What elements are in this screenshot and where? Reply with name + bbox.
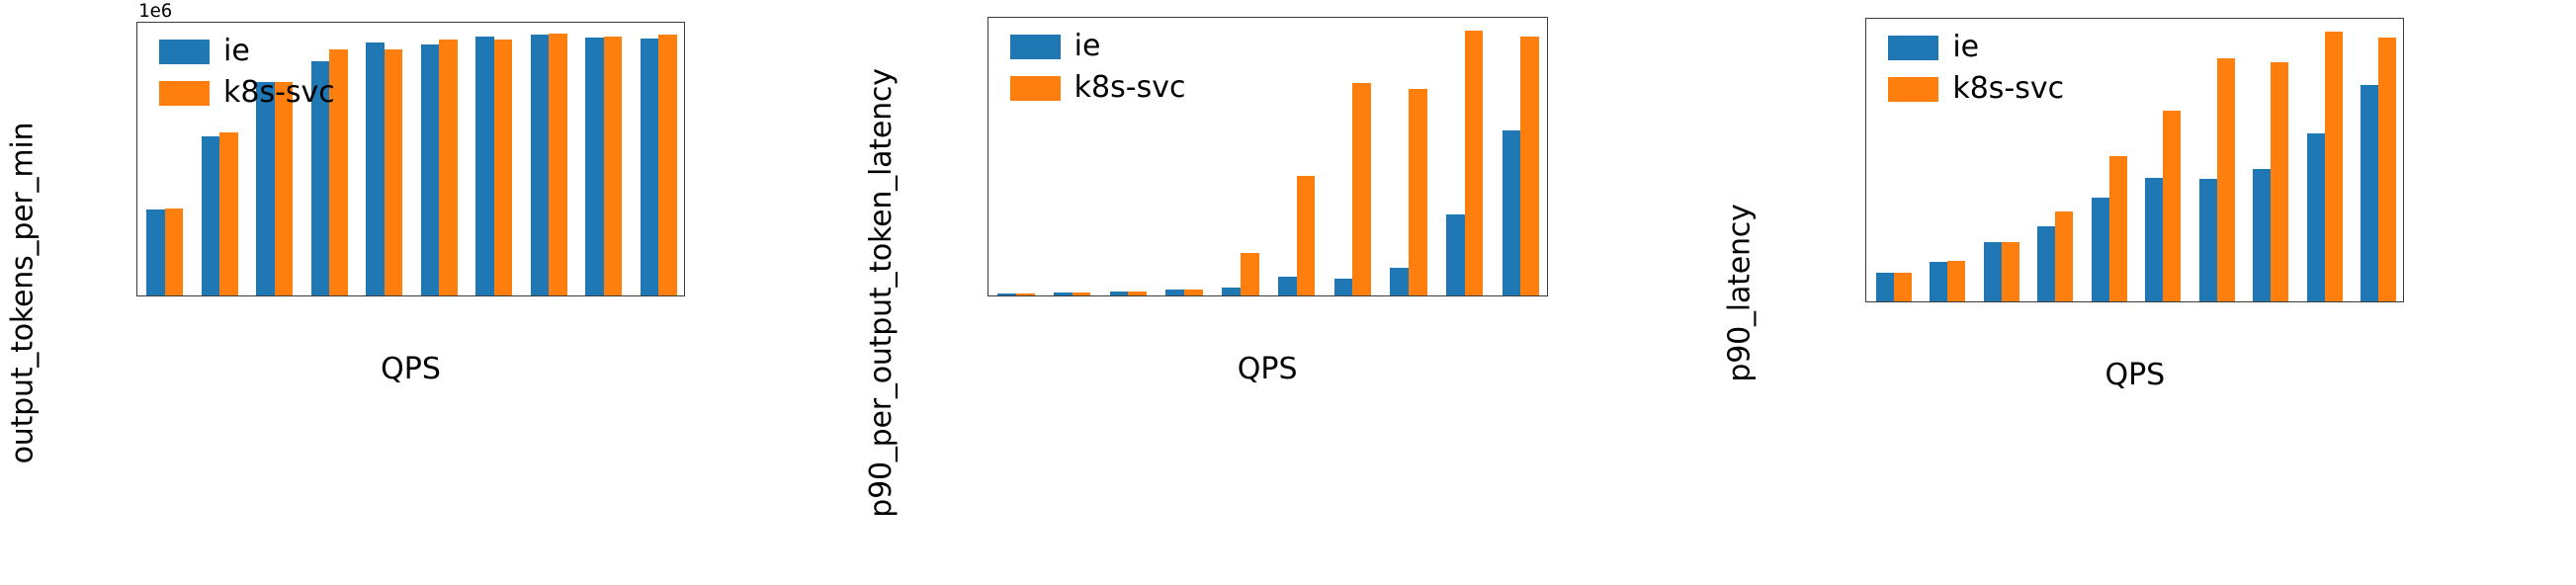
x-axis-tick: 300	[249, 295, 301, 296]
x-tick-mark	[2162, 301, 2164, 302]
x-tick-mark	[328, 295, 330, 296]
bar-ie	[1876, 273, 1894, 301]
legend-label-ie: ie	[223, 37, 250, 66]
x-axis-tick: 800	[2245, 301, 2296, 302]
x-tick-mark	[384, 295, 386, 296]
y-tick-mark	[987, 77, 988, 79]
legend-label-k8s-svc: k8s-svc	[1074, 73, 1186, 103]
legend-entry-k8s-svc: k8s-svc	[1010, 73, 1186, 103]
legend-swatch-k8s-svc	[1888, 77, 1938, 102]
x-axis-tick: 500	[359, 295, 410, 296]
x-tick-mark	[1015, 295, 1017, 296]
x-axis-tick: 900	[1439, 295, 1491, 296]
y-tick-mark	[987, 234, 988, 236]
y-tick-mark	[136, 260, 137, 262]
x-tick-mark	[1893, 301, 1895, 302]
bar-k8s-svc	[1947, 261, 1965, 301]
x-axis-tick: 600	[2137, 301, 2189, 302]
x-tick-mark	[2216, 301, 2218, 302]
x-axis-tick: 1000	[2345, 301, 2405, 302]
bar-ie	[475, 37, 493, 295]
x-axis-tick: 700	[469, 295, 520, 296]
y-tick-mark	[987, 108, 988, 110]
bar-k8s-svc	[2002, 242, 2019, 301]
x-tick-mark	[2001, 301, 2003, 302]
bar-ie	[1390, 268, 1409, 295]
legend-swatch-ie	[159, 40, 210, 64]
bar-ie	[202, 136, 219, 295]
x-tick-mark	[603, 295, 605, 296]
bar-ie	[585, 38, 603, 295]
legend-swatch-k8s-svc	[159, 81, 210, 106]
y-tick-mark	[1865, 141, 1866, 143]
bar-k8s-svc	[165, 209, 183, 295]
bar-k8s-svc	[2271, 62, 2288, 301]
x-tick-mark	[1408, 295, 1410, 296]
x-axis-tick: 1000	[1487, 295, 1548, 296]
x-axis-tick: 300	[1103, 295, 1155, 296]
bar-ie	[2199, 179, 2217, 301]
bar-k8s-svc	[1409, 89, 1427, 295]
x-axis-tick: 700	[2191, 301, 2243, 302]
axes-area: ie k8s-svc 0.00.51.01.52.02.53.03.510020…	[136, 22, 685, 296]
legend-label-k8s-svc: k8s-svc	[1952, 74, 2064, 104]
legend-swatch-ie	[1010, 35, 1061, 59]
x-axis-tick: 500	[2084, 301, 2135, 302]
x-axis-tick: 800	[523, 295, 574, 296]
bar-k8s-svc	[2325, 32, 2343, 301]
x-tick-mark	[1519, 295, 1521, 296]
y-tick-mark	[1865, 195, 1866, 197]
chart-panel-p90-per-output-token-latency: p90_per_output_token_latency ie k8s-svc …	[859, 0, 1718, 585]
bar-k8s-svc	[385, 49, 402, 295]
x-axis-tick: 400	[303, 295, 355, 296]
bar-ie	[1446, 214, 1465, 295]
x-tick-mark	[2377, 301, 2379, 302]
bar-k8s-svc	[1894, 273, 1912, 301]
x-tick-mark	[1464, 295, 1466, 296]
x-tick-mark	[1351, 295, 1353, 296]
x-axis-tick: 300	[1976, 301, 2027, 302]
bar-k8s-svc	[275, 82, 293, 295]
plot-wrapper: 1e6 ie k8s-svc 0.00.51.01.52.02.53.03.51…	[0, 0, 859, 585]
bar-ie	[2145, 178, 2163, 301]
x-tick-mark	[2324, 301, 2326, 302]
legend: ie k8s-svc	[159, 37, 335, 108]
x-axis-tick: 900	[2299, 301, 2351, 302]
x-tick-mark	[2270, 301, 2272, 302]
bar-ie	[1930, 262, 1947, 301]
x-tick-mark	[1183, 295, 1185, 296]
axes-area: ie k8s-svc 02004006008001000120014001600…	[987, 17, 1548, 296]
x-axis-tick: 100	[990, 295, 1042, 296]
y-tick-mark	[987, 265, 988, 267]
x-axis-tick: 800	[1383, 295, 1434, 296]
bar-k8s-svc	[1241, 253, 1259, 295]
x-axis-tick: 700	[1327, 295, 1378, 296]
y-tick-mark	[987, 45, 988, 47]
x-tick-mark	[1296, 295, 1298, 296]
legend-label-ie: ie	[1952, 33, 1979, 62]
legend-swatch-k8s-svc	[1010, 76, 1061, 101]
x-tick-mark	[274, 295, 276, 296]
y-tick-mark	[987, 139, 988, 141]
bar-k8s-svc	[2109, 156, 2127, 301]
y-tick-mark	[136, 150, 137, 152]
x-tick-mark	[657, 295, 659, 296]
x-tick-mark	[493, 295, 495, 296]
bar-ie	[531, 35, 549, 295]
x-tick-mark	[438, 295, 440, 296]
legend-label-ie: ie	[1074, 32, 1101, 61]
x-axis-tick: 1000	[625, 295, 685, 296]
x-tick-mark	[1072, 295, 1073, 296]
bar-ie	[2037, 226, 2055, 301]
legend: ie k8s-svc	[1010, 32, 1186, 103]
x-axis-label: QPS	[1865, 358, 2404, 392]
legend-entry-k8s-svc: k8s-svc	[159, 78, 335, 108]
x-tick-mark	[218, 295, 220, 296]
bar-ie	[641, 39, 658, 295]
chart-panel-p90-latency: p90_latency ie k8s-svc 01000020000300004…	[1717, 0, 2576, 585]
bar-k8s-svc	[604, 37, 622, 295]
legend-entry-ie: ie	[1010, 32, 1186, 61]
y-axis-offset-text: 1e6	[138, 0, 172, 22]
legend: ie k8s-svc	[1888, 33, 2064, 104]
x-axis-tick: 500	[1215, 295, 1266, 296]
x-axis-tick: 200	[1922, 301, 1973, 302]
bar-ie	[146, 209, 164, 295]
y-tick-mark	[136, 223, 137, 225]
bar-k8s-svc	[1465, 31, 1484, 295]
legend-label-k8s-svc: k8s-svc	[223, 78, 335, 108]
figure-bar-chart-row: output_tokens_per_min 1e6 ie k8s-svc 0.0…	[0, 0, 2576, 585]
x-axis-label: QPS	[987, 352, 1548, 386]
bar-ie	[2361, 85, 2378, 301]
x-axis-label: QPS	[136, 352, 685, 386]
bar-k8s-svc	[494, 40, 512, 295]
bar-k8s-svc	[2217, 58, 2235, 301]
x-axis-tick: 600	[413, 295, 465, 296]
x-tick-mark	[2054, 301, 2056, 302]
bar-ie	[1503, 130, 1521, 295]
x-axis-tick: 200	[1047, 295, 1098, 296]
bar-ie	[1984, 242, 2002, 301]
plot-wrapper: ie k8s-svc 02004006008001000120014001600…	[859, 0, 1718, 585]
legend-entry-ie: ie	[1888, 33, 2064, 62]
y-tick-mark	[136, 114, 137, 116]
bar-ie	[1222, 288, 1241, 295]
y-tick-mark	[1865, 88, 1866, 90]
chart-panel-output-tokens-per-min: output_tokens_per_min 1e6 ie k8s-svc 0.0…	[0, 0, 859, 585]
bar-k8s-svc	[219, 132, 237, 295]
y-tick-mark	[987, 171, 988, 173]
x-tick-mark	[548, 295, 550, 296]
bar-ie	[366, 42, 384, 295]
bar-k8s-svc	[2163, 111, 2181, 301]
bar-ie	[2092, 198, 2109, 301]
bar-ie	[1278, 277, 1297, 295]
legend-entry-ie: ie	[159, 37, 335, 66]
plot-wrapper: ie k8s-svc 01000020000300004000050000100…	[1717, 0, 2576, 585]
x-axis-tick: 400	[2029, 301, 2081, 302]
x-axis-tick: 200	[194, 295, 245, 296]
x-axis-tick: 900	[578, 295, 630, 296]
bar-ie	[2253, 169, 2271, 301]
bar-k8s-svc	[2378, 38, 2396, 301]
bar-ie	[2307, 133, 2325, 301]
y-tick-mark	[136, 41, 137, 42]
y-tick-mark	[136, 77, 137, 79]
bar-k8s-svc	[439, 40, 457, 295]
bar-k8s-svc	[1520, 37, 1539, 295]
x-axis-tick: 600	[1271, 295, 1323, 296]
legend-entry-k8s-svc: k8s-svc	[1888, 74, 2064, 104]
bar-k8s-svc	[1352, 83, 1371, 295]
x-tick-mark	[1240, 295, 1242, 296]
y-tick-mark	[1865, 249, 1866, 251]
bar-ie	[256, 82, 274, 295]
bar-k8s-svc	[549, 34, 566, 295]
x-axis-tick: 100	[1868, 301, 1920, 302]
x-tick-mark	[1128, 295, 1130, 296]
x-tick-mark	[2108, 301, 2110, 302]
legend-swatch-ie	[1888, 36, 1938, 60]
bar-k8s-svc	[1297, 176, 1316, 295]
y-tick-mark	[987, 203, 988, 205]
x-tick-mark	[1946, 301, 1948, 302]
y-tick-mark	[136, 187, 137, 189]
y-tick-mark	[1865, 34, 1866, 36]
bar-k8s-svc	[2055, 211, 2073, 301]
bar-ie	[421, 44, 439, 295]
bar-ie	[1334, 279, 1353, 295]
x-axis-tick: 100	[139, 295, 191, 296]
axes-area: ie k8s-svc 01000020000300004000050000100…	[1865, 18, 2404, 302]
x-tick-mark	[164, 295, 166, 296]
bar-k8s-svc	[658, 35, 676, 295]
x-axis-tick: 400	[1159, 295, 1210, 296]
